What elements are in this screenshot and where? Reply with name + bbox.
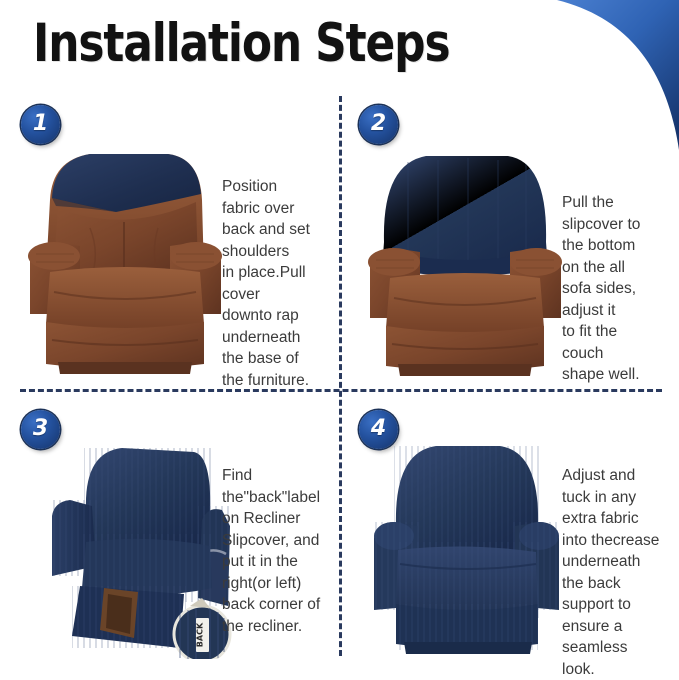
step-badge-1: 1	[21, 105, 60, 144]
page-title: Installation Steps	[33, 17, 450, 70]
step-image-2	[368, 142, 563, 380]
step-number-4: 4	[371, 418, 386, 440]
step-caption-1: Position fabric over back and set should…	[222, 176, 334, 391]
step-image-4	[374, 438, 559, 659]
step-badge-2: 2	[359, 105, 398, 144]
step-number-3: 3	[33, 418, 48, 440]
step-caption-2: Pull the slipcover to the bottom on the …	[562, 192, 674, 386]
step-caption-4: Adjust and tuck in any extra fabric into…	[562, 465, 674, 680]
step-caption-3: Find the"back"label on Recliner Slipcove…	[222, 465, 340, 637]
step-image-3: BACK	[52, 438, 237, 659]
back-label-text: BACK	[196, 622, 205, 647]
corner-swoosh	[479, 0, 679, 150]
step-image-1	[28, 142, 223, 380]
step-number-1: 1	[33, 113, 48, 135]
step-number-2: 2	[371, 113, 386, 135]
